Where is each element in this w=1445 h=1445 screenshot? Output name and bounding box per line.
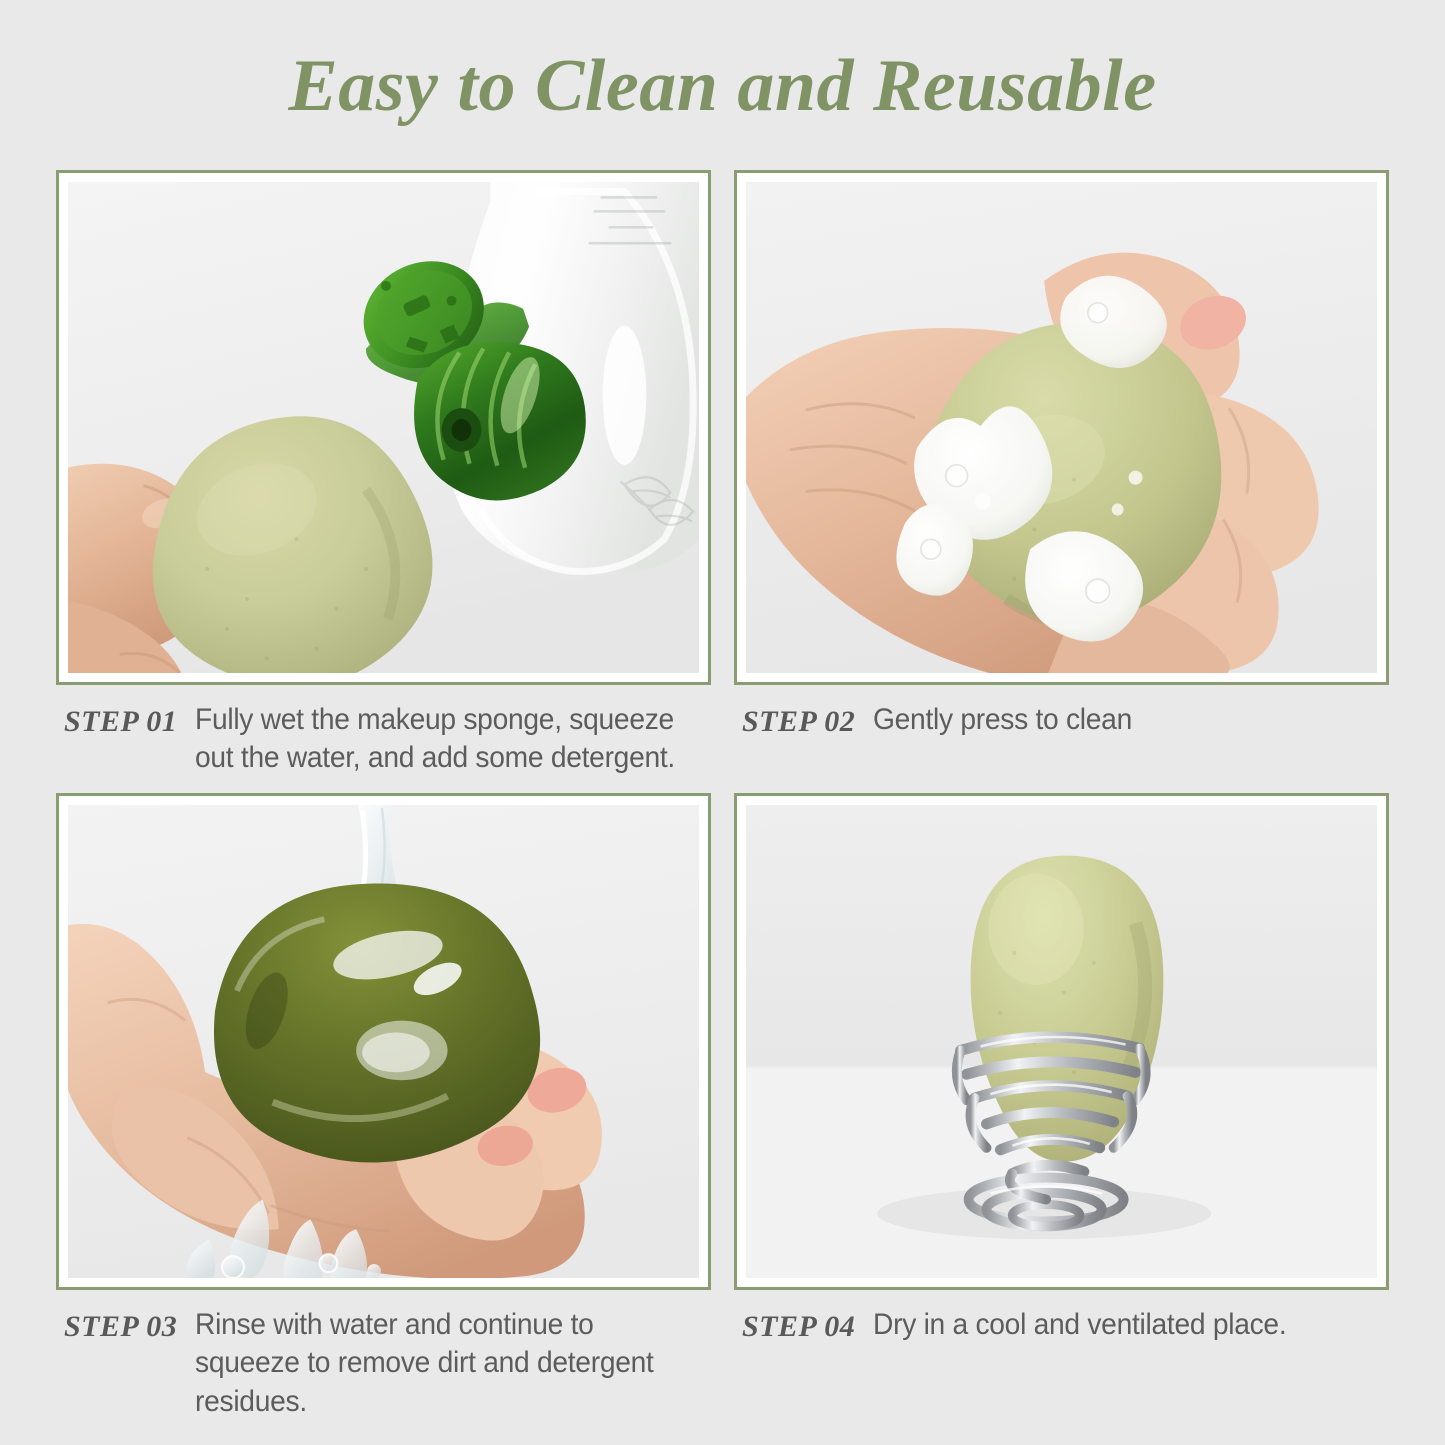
photo-detergent: [68, 182, 699, 673]
photo-frame-03: [56, 793, 711, 1290]
scene-dry-svg: [746, 805, 1377, 1278]
photo-frame-01: [56, 170, 711, 685]
page-title: Easy to Clean and Reusable: [0, 48, 1445, 126]
photo-frame-04: [734, 793, 1389, 1290]
photo-rinse: [68, 805, 699, 1278]
photo-dry: [746, 805, 1377, 1278]
photo-frame-02: [734, 170, 1389, 685]
step-label-03: STEP 03: [64, 1306, 177, 1346]
step-label-01: STEP 01: [64, 701, 177, 741]
step-text-01: Fully wet the makeup sponge, squeeze out…: [195, 701, 680, 778]
scene-rinse-svg: [68, 805, 699, 1278]
photo-squeeze: [746, 182, 1377, 673]
caption-03: STEP 03 Rinse with water and continue to…: [56, 1306, 711, 1421]
wet-sponge: [214, 883, 540, 1162]
step-cell-02: STEP 02 Gently press to clean: [734, 170, 1389, 778]
caption-01: STEP 01 Fully wet the makeup sponge, squ…: [56, 701, 711, 778]
caption-02: STEP 02 Gently press to clean: [734, 701, 1389, 741]
scene-squeeze-svg: [746, 182, 1377, 673]
step-text-02: Gently press to clean: [873, 701, 1132, 739]
product-infographic: Easy to Clean and Reusable: [0, 0, 1445, 1445]
steps-grid: STEP 01 Fully wet the makeup sponge, squ…: [56, 170, 1389, 1421]
step-text-04: Dry in a cool and ventilated place.: [873, 1306, 1286, 1344]
step-cell-04: STEP 04 Dry in a cool and ventilated pla…: [734, 793, 1389, 1421]
step-cell-03: STEP 03 Rinse with water and continue to…: [56, 793, 711, 1421]
step-cell-01: STEP 01 Fully wet the makeup sponge, squ…: [56, 170, 711, 778]
step-label-04: STEP 04: [742, 1306, 855, 1346]
step-text-03: Rinse with water and continue to squeeze…: [195, 1306, 680, 1421]
scene-detergent-svg: [68, 182, 699, 673]
caption-04: STEP 04 Dry in a cool and ventilated pla…: [734, 1306, 1389, 1346]
title-bar: Easy to Clean and Reusable: [0, 48, 1445, 126]
step-label-02: STEP 02: [742, 701, 855, 741]
